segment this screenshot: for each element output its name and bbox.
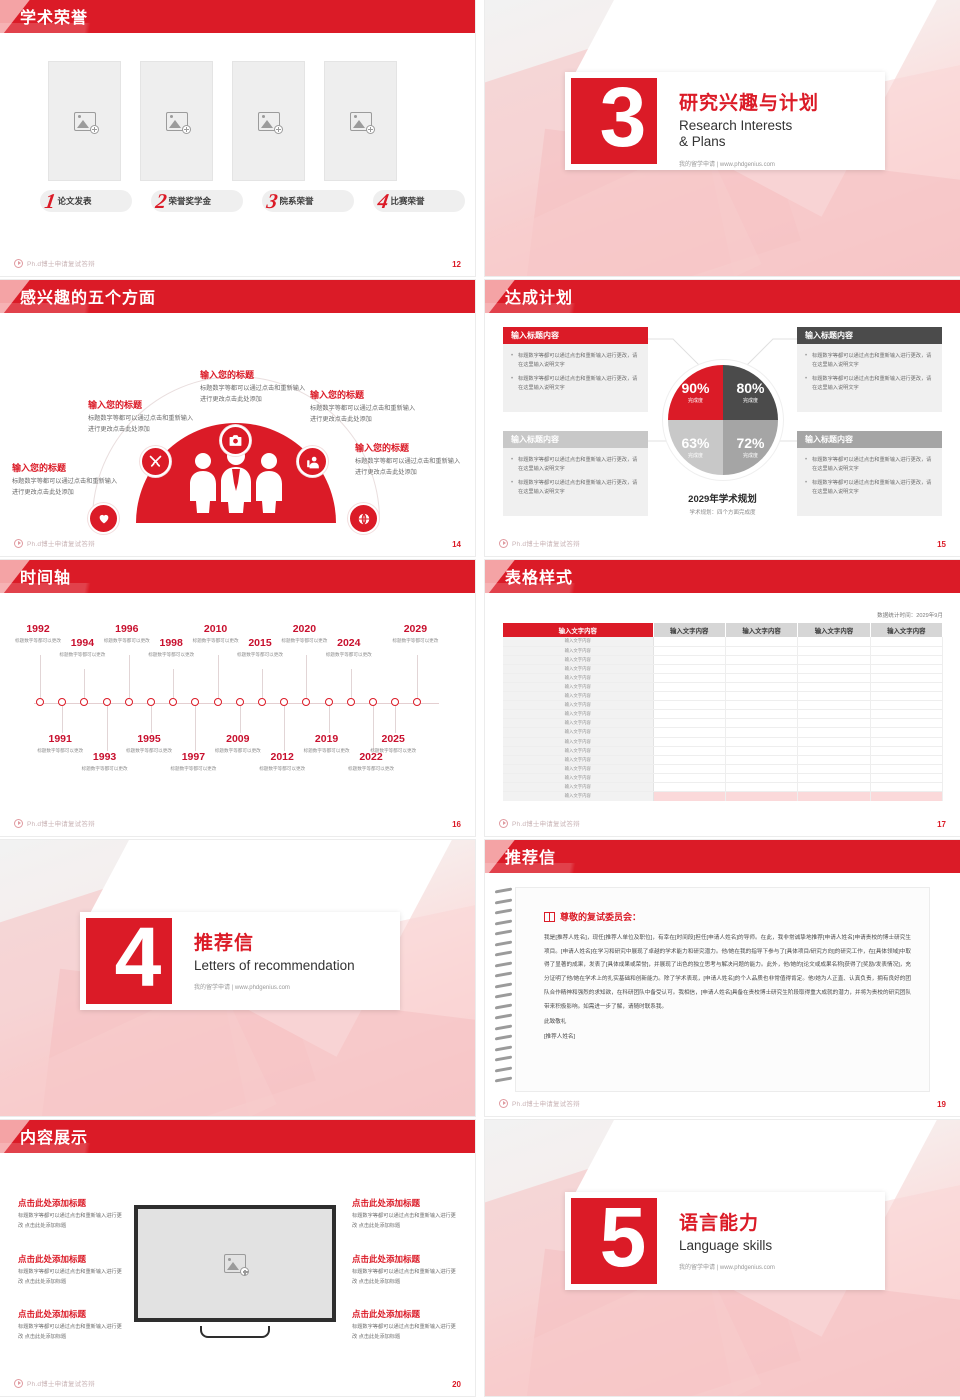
- table-cell[interactable]: [725, 792, 797, 801]
- content-item: 点击此处添加标题 标题数字等都可以通过点击和重新输入进行更改 点击此处添加标题: [18, 1197, 126, 1231]
- plan-bullet: 标题数字等都可以通过点击和重新输入进行更改，请在这里输入说明文字: [511, 352, 640, 370]
- timeline-connector: [395, 706, 396, 733]
- table-row[interactable]: 输入文字内容: [503, 783, 943, 792]
- table-cell[interactable]: [653, 728, 725, 737]
- slide-footer: Ph.d博士申请复试答辩: [499, 1098, 580, 1108]
- plan-bullet: 标题数字等都可以通过点击和重新输入进行更改，请在这里输入说明文字: [805, 375, 934, 393]
- spiral-ring: [495, 1024, 512, 1030]
- table-cell[interactable]: [725, 692, 797, 701]
- slide-content-display: 内容展示 点击此处添加标题 标题数字等都可以通过点击和重新输入进行更改 点击此处…: [0, 1120, 475, 1396]
- table-row[interactable]: 输入文字内容: [503, 646, 943, 655]
- section-card: 3 研究兴趣与计划 Research Interests & Plans 我的留…: [565, 72, 885, 170]
- table-cell[interactable]: [870, 792, 942, 801]
- content-item: 点击此处添加标题 标题数字等都可以通过点击和重新输入进行更改 点击此处添加标题: [352, 1197, 460, 1231]
- section-text: 语言能力 Language skills 我的留学申请 | www.phdgen…: [657, 1192, 775, 1290]
- table-cell[interactable]: 输入文字内容: [503, 710, 653, 719]
- content-heading: 点击此处添加标题: [18, 1308, 126, 1320]
- section-title-cn: 推荐信: [194, 928, 355, 955]
- timeline-desc: 标题数字等都可以更改: [341, 765, 401, 773]
- table-cell[interactable]: [798, 655, 870, 664]
- timeline-desc: 标题数字等都可以更改: [319, 651, 379, 659]
- image-placeholder-card[interactable]: [48, 61, 121, 181]
- table-row[interactable]: 输入文字内容: [503, 792, 943, 801]
- table-cell[interactable]: [653, 737, 725, 746]
- page-title: 表格样式: [505, 564, 573, 588]
- table-cell[interactable]: [653, 719, 725, 728]
- table-cell[interactable]: [653, 664, 725, 673]
- timeline-connector: [40, 655, 41, 698]
- table-cell[interactable]: [798, 728, 870, 737]
- plan-bullet: 标题数字等都可以通过点击和重新输入进行更改，请在这里输入说明文字: [511, 375, 640, 393]
- section-title-en: Language skills: [679, 1238, 775, 1254]
- play-icon: [14, 1379, 23, 1388]
- table-row[interactable]: 输入文字内容: [503, 746, 943, 755]
- tv-screen-placeholder[interactable]: [134, 1205, 336, 1322]
- aspects-diagram: 输入您的标题 标题数字等都可以通过点击和重新输入进行更改点击此处添加 输入您的标…: [0, 313, 475, 556]
- letter-closing: 此致敬礼: [544, 1016, 911, 1028]
- timeline-desc: 标题数字等都可以更改: [52, 651, 112, 659]
- spiral-ring: [495, 982, 512, 988]
- table-cell[interactable]: [653, 755, 725, 764]
- table-cell[interactable]: [798, 755, 870, 764]
- pie-slice: 63% 完成度: [668, 420, 723, 475]
- table-cell[interactable]: 输入文字内容: [503, 737, 653, 746]
- timeline-year: 2024: [319, 637, 379, 649]
- timeline-connector: [62, 706, 63, 733]
- table-row[interactable]: 输入文字内容: [503, 764, 943, 773]
- table-cell[interactable]: [653, 792, 725, 801]
- spiral-ring: [495, 919, 512, 925]
- table-cell[interactable]: [725, 737, 797, 746]
- table-cell[interactable]: [870, 728, 942, 737]
- timeline-year: 1995: [119, 733, 179, 745]
- slide-footer: Ph.d博士申请复试答辩: [499, 538, 580, 548]
- table-row[interactable]: 输入文字内容: [503, 655, 943, 664]
- table-cell[interactable]: 输入文字内容: [503, 655, 653, 664]
- page-title: 时间轴: [20, 564, 71, 588]
- table-row[interactable]: 输入文字内容: [503, 701, 943, 710]
- table-cell[interactable]: [798, 701, 870, 710]
- letter-signature: [推荐人姓名]: [544, 1031, 911, 1043]
- timeline-connector: [417, 655, 418, 698]
- slide-body: 1992标题数字等都可以更改1994标题数字等都可以更改1996标题数字等都可以…: [0, 593, 475, 836]
- table-cell[interactable]: [798, 719, 870, 728]
- table-cell[interactable]: [725, 646, 797, 655]
- spiral-ring: [495, 1045, 512, 1051]
- table-wrapper: 数据统计时间：2029年9月 输入文字内容输入文字内容输入文字内容输入文字内容输…: [503, 611, 943, 801]
- spiral-ring: [495, 951, 512, 957]
- table-row[interactable]: 输入文字内容: [503, 773, 943, 782]
- chart-title: 2029年学术规划: [645, 491, 800, 505]
- slide-achievement-plan: 达成计划 输入标题内容 标题数字等都可以通过点击和重新输入进行更改，请在这里输入…: [485, 280, 960, 556]
- plan-box-bullets: 标题数字等都可以通过点击和重新输入进行更改，请在这里输入说明文字 标题数字等都可…: [797, 448, 942, 516]
- table-cell[interactable]: [870, 637, 942, 646]
- honor-item[interactable]: 3 院系荣誉: [262, 190, 354, 212]
- aspect-icon-heart[interactable]: [88, 503, 119, 534]
- section-title-cn: 研究兴趣与计划: [679, 88, 819, 115]
- section-card: 5 语言能力 Language skills 我的留学申请 | www.phdg…: [565, 1192, 885, 1290]
- letter-body: 我是[推荐人姓名]，现任[推荐人单位及职位]，有幸在[时间段]担任[申请人姓名]…: [544, 932, 911, 1014]
- table-header-cell[interactable]: 输入文字内容: [798, 623, 870, 637]
- page-title: 感兴趣的五个方面: [20, 284, 156, 308]
- page-title: 学术荣誉: [20, 4, 88, 28]
- aspect-block: 输入您的标题 标题数字等都可以通过点击和重新输入进行更改点击此处添加: [355, 441, 465, 479]
- section-number-text: 3: [600, 78, 647, 164]
- slide-header: 推荐信: [485, 840, 960, 873]
- timeline-year: 1991: [30, 733, 90, 745]
- table-cell[interactable]: [653, 764, 725, 773]
- spiral-ring: [495, 909, 512, 915]
- table-cell[interactable]: [725, 719, 797, 728]
- content-body: 标题数字等都可以通过点击和重新输入进行更改 点击此处添加标题: [352, 1268, 460, 1287]
- footer-text: Ph.d博士申请复试答辩: [27, 258, 95, 268]
- table-cell[interactable]: [870, 664, 942, 673]
- timeline-year: 2019: [297, 733, 357, 745]
- plan-box-heading: 输入标题内容: [503, 431, 648, 448]
- table-cell[interactable]: [653, 710, 725, 719]
- add-image-icon: [350, 112, 372, 131]
- table-cell[interactable]: 输入文字内容: [503, 728, 653, 737]
- spiral-ring: [495, 1066, 512, 1072]
- footer-text: Ph.d博士申请复试答辩: [27, 1378, 95, 1388]
- table-cell[interactable]: 输入文字内容: [503, 783, 653, 792]
- table-cell[interactable]: [870, 764, 942, 773]
- table-cell[interactable]: [725, 637, 797, 646]
- timeline-diagram: 1992标题数字等都可以更改1994标题数字等都可以更改1996标题数字等都可以…: [0, 593, 475, 836]
- table-cell[interactable]: 输入文字内容: [503, 673, 653, 682]
- page-title: 内容展示: [20, 1124, 88, 1148]
- honor-number: 4: [376, 191, 390, 211]
- plan-bullet: 标题数字等都可以通过点击和重新输入进行更改，请在这里输入说明文字: [805, 479, 934, 497]
- timeline-node: [258, 698, 266, 706]
- plan-box-bullets: 标题数字等都可以通过点击和重新输入进行更改，请在这里输入说明文字 标题数字等都可…: [503, 448, 648, 516]
- spiral-ring: [495, 1056, 512, 1062]
- spiral-ring: [495, 888, 512, 894]
- plan-diagram: 输入标题内容 标题数字等都可以通过点击和重新输入进行更改，请在这里输入说明文字 …: [485, 313, 960, 556]
- slide-footer: Ph.d博士申请复试答辩: [14, 538, 95, 548]
- table-cell[interactable]: [870, 719, 942, 728]
- slide-timeline: 时间轴 1992标题数字等都可以更改1994标题数字等都可以更改1996标题数字…: [0, 560, 475, 836]
- table-cell[interactable]: [653, 682, 725, 691]
- content-item: 点击此处添加标题 标题数字等都可以通过点击和重新输入进行更改 点击此处添加标题: [352, 1253, 460, 1287]
- section-title-cn: 语言能力: [679, 1208, 775, 1235]
- honor-number: 1: [43, 191, 57, 211]
- table-cell[interactable]: [870, 682, 942, 691]
- aspect-icon-tools[interactable]: [140, 446, 171, 477]
- plan-box: 输入标题内容 标题数字等都可以通过点击和重新输入进行更改，请在这里输入说明文字 …: [503, 327, 648, 412]
- table-cell[interactable]: [653, 673, 725, 682]
- table-cell[interactable]: [725, 728, 797, 737]
- table-cell[interactable]: [653, 773, 725, 782]
- table-cell[interactable]: [870, 646, 942, 655]
- plan-box-heading: 输入标题内容: [797, 327, 942, 344]
- spiral-ring: [495, 1014, 512, 1020]
- timeline-node: [36, 698, 44, 706]
- table-cell[interactable]: 输入文字内容: [503, 646, 653, 655]
- spiral-ring: [495, 1077, 512, 1083]
- slide-header: 感兴趣的五个方面: [0, 280, 475, 313]
- table-header-cell[interactable]: 输入文字内容: [870, 623, 942, 637]
- image-placeholder-card[interactable]: [324, 61, 397, 181]
- data-table[interactable]: 输入文字内容输入文字内容输入文字内容输入文字内容输入文字内容 输入文字内容输入文…: [503, 623, 943, 801]
- timeline-connector: [129, 655, 130, 698]
- plan-bullet: 标题数字等都可以通过点击和重新输入进行更改，请在这里输入说明文字: [805, 456, 934, 474]
- timeline-desc: 标题数字等都可以更改: [141, 651, 201, 659]
- timeline-connector: [107, 706, 108, 751]
- heart-icon: [97, 512, 111, 525]
- table-cell[interactable]: [870, 737, 942, 746]
- table-cell[interactable]: [870, 655, 942, 664]
- footer-text: Ph.d博士申请复试答辩: [512, 1098, 580, 1108]
- table-cell[interactable]: [798, 773, 870, 782]
- table-header-row: 输入文字内容输入文字内容输入文字内容输入文字内容输入文字内容: [503, 623, 943, 637]
- slide-academic-honors: 学术荣誉 1 论文发表 2 荣誉奖学金 3 院系荣誉: [0, 0, 475, 276]
- section-number: 5: [571, 1198, 657, 1284]
- table-row[interactable]: 输入文字内容: [503, 710, 943, 719]
- table-cell[interactable]: [653, 701, 725, 710]
- table-cell[interactable]: 输入文字内容: [503, 682, 653, 691]
- table-cell[interactable]: [725, 682, 797, 691]
- timeline-connector: [151, 706, 152, 733]
- table-cell[interactable]: [725, 673, 797, 682]
- play-icon: [14, 539, 23, 548]
- slide-body: 点击此处添加标题 标题数字等都可以通过点击和重新输入进行更改 点击此处添加标题 …: [0, 1153, 475, 1396]
- table-row[interactable]: 输入文字内容: [503, 664, 943, 673]
- slide-section-cover-3: 3 研究兴趣与计划 Research Interests & Plans 我的留…: [485, 0, 960, 276]
- timeline-node: [191, 698, 199, 706]
- table-header-cell[interactable]: 输入文字内容: [653, 623, 725, 637]
- aspect-body: 标题数字等都可以通过点击和重新输入进行更改点击此处添加: [12, 477, 122, 499]
- aspect-icon-camera[interactable]: [220, 425, 251, 456]
- spiral-ring: [495, 993, 512, 999]
- table-cell[interactable]: [870, 755, 942, 764]
- content-body: 标题数字等都可以通过点击和重新输入进行更改 点击此处添加标题: [352, 1212, 460, 1231]
- honor-item[interactable]: 4 比赛荣誉: [373, 190, 465, 212]
- timeline-node: [413, 698, 421, 706]
- honor-label: 比赛荣誉: [391, 195, 425, 207]
- table-cell[interactable]: [798, 673, 870, 682]
- aspect-heading: 输入您的标题: [355, 441, 465, 454]
- table-cell[interactable]: [870, 746, 942, 755]
- slide-header: 达成计划: [485, 280, 960, 313]
- content-item: 点击此处添加标题 标题数字等都可以通过点击和重新输入进行更改 点击此处添加标题: [352, 1308, 460, 1342]
- table-row[interactable]: 输入文字内容: [503, 637, 943, 646]
- section-subtitle: 我的留学申请 | www.phdgenius.com: [679, 1262, 775, 1271]
- section-title-en: Research Interests & Plans: [679, 118, 819, 151]
- content-body: 标题数字等都可以通过点击和重新输入进行更改 点击此处添加标题: [18, 1268, 126, 1287]
- pie-value: 72%: [736, 437, 764, 450]
- play-icon: [14, 259, 23, 268]
- add-image-icon: [258, 112, 280, 131]
- plan-box-heading: 输入标题内容: [797, 431, 942, 448]
- table-cell[interactable]: [798, 737, 870, 746]
- aspect-icon-globe[interactable]: [348, 503, 379, 534]
- table-cell[interactable]: [725, 710, 797, 719]
- table-cell[interactable]: 输入文字内容: [503, 792, 653, 801]
- plan-bullet: 标题数字等都可以通过点击和重新输入进行更改，请在这里输入说明文字: [805, 352, 934, 370]
- table-row[interactable]: 输入文字内容: [503, 692, 943, 701]
- completion-pie-chart: 90% 完成度 80% 完成度 63% 完成度 72% 完成度: [668, 365, 778, 475]
- honor-item[interactable]: 2 荣誉奖学金: [151, 190, 243, 212]
- table-cell[interactable]: 输入文字内容: [503, 664, 653, 673]
- table-cell[interactable]: [725, 664, 797, 673]
- table-cell[interactable]: [870, 710, 942, 719]
- letter-salutation: 尊敬的复试委员会：: [544, 910, 911, 923]
- table-cell[interactable]: [725, 701, 797, 710]
- table-cell[interactable]: [798, 792, 870, 801]
- image-placeholder-card[interactable]: [140, 61, 213, 181]
- table-cell[interactable]: 输入文字内容: [503, 773, 653, 782]
- table-cell[interactable]: [798, 692, 870, 701]
- table-cell[interactable]: [870, 783, 942, 792]
- page-title: 达成计划: [505, 284, 573, 308]
- table-cell[interactable]: 输入文字内容: [503, 692, 653, 701]
- slide-header: 表格样式: [485, 560, 960, 593]
- honor-number: 3: [265, 191, 279, 211]
- timeline-entry: 2029标题数字等都可以更改: [385, 623, 445, 645]
- table-row[interactable]: 输入文字内容: [503, 755, 943, 764]
- pie-sublabel: 完成度: [688, 397, 703, 404]
- honor-item[interactable]: 1 论文发表: [40, 190, 132, 212]
- table-cell[interactable]: [725, 655, 797, 664]
- table-cell[interactable]: [870, 673, 942, 682]
- people-icon: [182, 449, 290, 513]
- aspect-heading: 输入您的标题: [200, 368, 310, 381]
- table-row[interactable]: 输入文字内容: [503, 719, 943, 728]
- table-cell[interactable]: 输入文字内容: [503, 755, 653, 764]
- table-cell[interactable]: [725, 764, 797, 773]
- table-cell[interactable]: 输入文字内容: [503, 637, 653, 646]
- aspect-icon-person[interactable]: [297, 446, 328, 477]
- timeline-year: 1996: [97, 623, 157, 635]
- page-number: 12: [452, 260, 461, 269]
- table-cell[interactable]: [870, 701, 942, 710]
- spiral-ring: [495, 961, 512, 967]
- slide-body: 输入标题内容 标题数字等都可以通过点击和重新输入进行更改，请在这里输入说明文字 …: [485, 313, 960, 556]
- slide-table-style: 表格样式 数据统计时间：2029年9月 输入文字内容输入文字内容输入文字内容输入…: [485, 560, 960, 836]
- content-heading: 点击此处添加标题: [18, 1253, 126, 1265]
- table-cell[interactable]: [653, 746, 725, 755]
- slide-section-cover-4: 4 推荐信 Letters of recommendation 我的留学申请 |…: [0, 840, 475, 1116]
- timeline-entry: 2024标题数字等都可以更改: [319, 637, 379, 659]
- content-diagram: 点击此处添加标题 标题数字等都可以通过点击和重新输入进行更改 点击此处添加标题 …: [0, 1153, 475, 1396]
- table-header-cell[interactable]: 输入文字内容: [725, 623, 797, 637]
- table-header-cell[interactable]: 输入文字内容: [503, 623, 653, 637]
- table-row[interactable]: 输入文字内容: [503, 728, 943, 737]
- slide-body: 尊敬的复试委员会： 我是[推荐人姓名]，现任[推荐人单位及职位]，有幸在[时间段…: [485, 873, 960, 1116]
- table-cell[interactable]: [653, 692, 725, 701]
- table-cell[interactable]: [653, 783, 725, 792]
- timeline-entry: 2025标题数字等都可以更改: [363, 733, 423, 755]
- honor-label: 荣誉奖学金: [169, 195, 212, 207]
- table-cell[interactable]: [798, 664, 870, 673]
- timeline-node: [302, 698, 310, 706]
- timeline-node: [147, 698, 155, 706]
- slide-header: 内容展示: [0, 1120, 475, 1153]
- aspect-block: 输入您的标题 标题数字等都可以通过点击和重新输入进行更改点击此处添加: [310, 388, 420, 426]
- pie-sublabel: 完成度: [743, 397, 758, 404]
- table-cell[interactable]: [870, 692, 942, 701]
- page-title: 推荐信: [505, 844, 556, 868]
- timeline-year: 2025: [363, 733, 423, 745]
- section-title-en-line1: Research Interests: [679, 118, 819, 134]
- footer-text: Ph.d博士申请复试答辩: [27, 538, 95, 548]
- page-number: 19: [937, 1100, 946, 1109]
- notebook-spiral-icon: [495, 889, 515, 1089]
- table-cell[interactable]: [653, 655, 725, 664]
- letter-card: 尊敬的复试委员会： 我是[推荐人姓名]，现任[推荐人单位及职位]，有幸在[时间段…: [515, 887, 930, 1092]
- content-heading: 点击此处添加标题: [352, 1197, 460, 1209]
- table-row[interactable]: 输入文字内容: [503, 737, 943, 746]
- content-body: 标题数字等都可以通过点击和重新输入进行更改 点击此处添加标题: [352, 1323, 460, 1342]
- slide-header: 学术荣誉: [0, 0, 475, 33]
- timeline-node: [325, 698, 333, 706]
- timeline-connector: [218, 655, 219, 698]
- table-cell[interactable]: 输入文字内容: [503, 764, 653, 773]
- plan-box: 输入标题内容 标题数字等都可以通过点击和重新输入进行更改，请在这里输入说明文字 …: [797, 431, 942, 516]
- table-cell[interactable]: [798, 682, 870, 691]
- table-row[interactable]: 输入文字内容: [503, 682, 943, 691]
- section-text: 研究兴趣与计划 Research Interests & Plans 我的留学申…: [657, 72, 819, 170]
- table-cell[interactable]: [870, 773, 942, 782]
- slide-footer: Ph.d博士申请复试答辩: [14, 1378, 95, 1388]
- aspect-heading: 输入您的标题: [12, 461, 122, 474]
- table-cell[interactable]: [798, 764, 870, 773]
- table-cell[interactable]: 输入文字内容: [503, 701, 653, 710]
- table-cell[interactable]: [798, 637, 870, 646]
- page-number: 14: [452, 540, 461, 549]
- timeline-year: 2020: [274, 623, 334, 635]
- table-cell[interactable]: [725, 783, 797, 792]
- spiral-ring: [495, 972, 512, 978]
- spiral-ring: [495, 1003, 512, 1009]
- chart-subtitle: 学术规划：四个方面完成度: [645, 508, 800, 516]
- timeline-year: 2029: [385, 623, 445, 635]
- table-cell[interactable]: [798, 783, 870, 792]
- table-cell[interactable]: [725, 755, 797, 764]
- honor-number: 2: [154, 191, 168, 211]
- globe-icon: [357, 512, 371, 526]
- camera-icon: [228, 434, 243, 447]
- table-cell[interactable]: [725, 746, 797, 755]
- table-cell[interactable]: [798, 710, 870, 719]
- slide-footer: Ph.d博士申请复试答辩: [14, 258, 95, 268]
- slide-body: 数据统计时间：2029年9月 输入文字内容输入文字内容输入文字内容输入文字内容输…: [485, 593, 960, 836]
- pie-slice: 72% 完成度: [723, 420, 778, 475]
- section-text: 推荐信 Letters of recommendation 我的留学申请 | w…: [172, 912, 355, 1010]
- table-cell[interactable]: 输入文字内容: [503, 719, 653, 728]
- table-cell[interactable]: [725, 773, 797, 782]
- timeline-desc: 标题数字等都可以更改: [163, 765, 223, 773]
- seal-icon: [544, 912, 555, 922]
- table-cell[interactable]: [798, 646, 870, 655]
- honor-image-cards: [0, 33, 475, 181]
- table-cell[interactable]: [798, 746, 870, 755]
- timeline-connector: [84, 669, 85, 698]
- table-cell[interactable]: [653, 646, 725, 655]
- table-cell[interactable]: [653, 637, 725, 646]
- timeline-connector: [329, 706, 330, 733]
- slide-body: 输入您的标题 标题数字等都可以通过点击和重新输入进行更改点击此处添加 输入您的标…: [0, 313, 475, 556]
- page-number: 20: [452, 1380, 461, 1389]
- spiral-ring: [495, 898, 512, 904]
- image-placeholder-card[interactable]: [232, 61, 305, 181]
- aspect-block: 输入您的标题 标题数字等都可以通过点击和重新输入进行更改点击此处添加: [200, 368, 310, 406]
- table-row[interactable]: 输入文字内容: [503, 673, 943, 682]
- section-title-en-line2: & Plans: [679, 134, 819, 150]
- table-cell[interactable]: 输入文字内容: [503, 746, 653, 755]
- content-body: 标题数字等都可以通过点击和重新输入进行更改 点击此处添加标题: [18, 1212, 126, 1231]
